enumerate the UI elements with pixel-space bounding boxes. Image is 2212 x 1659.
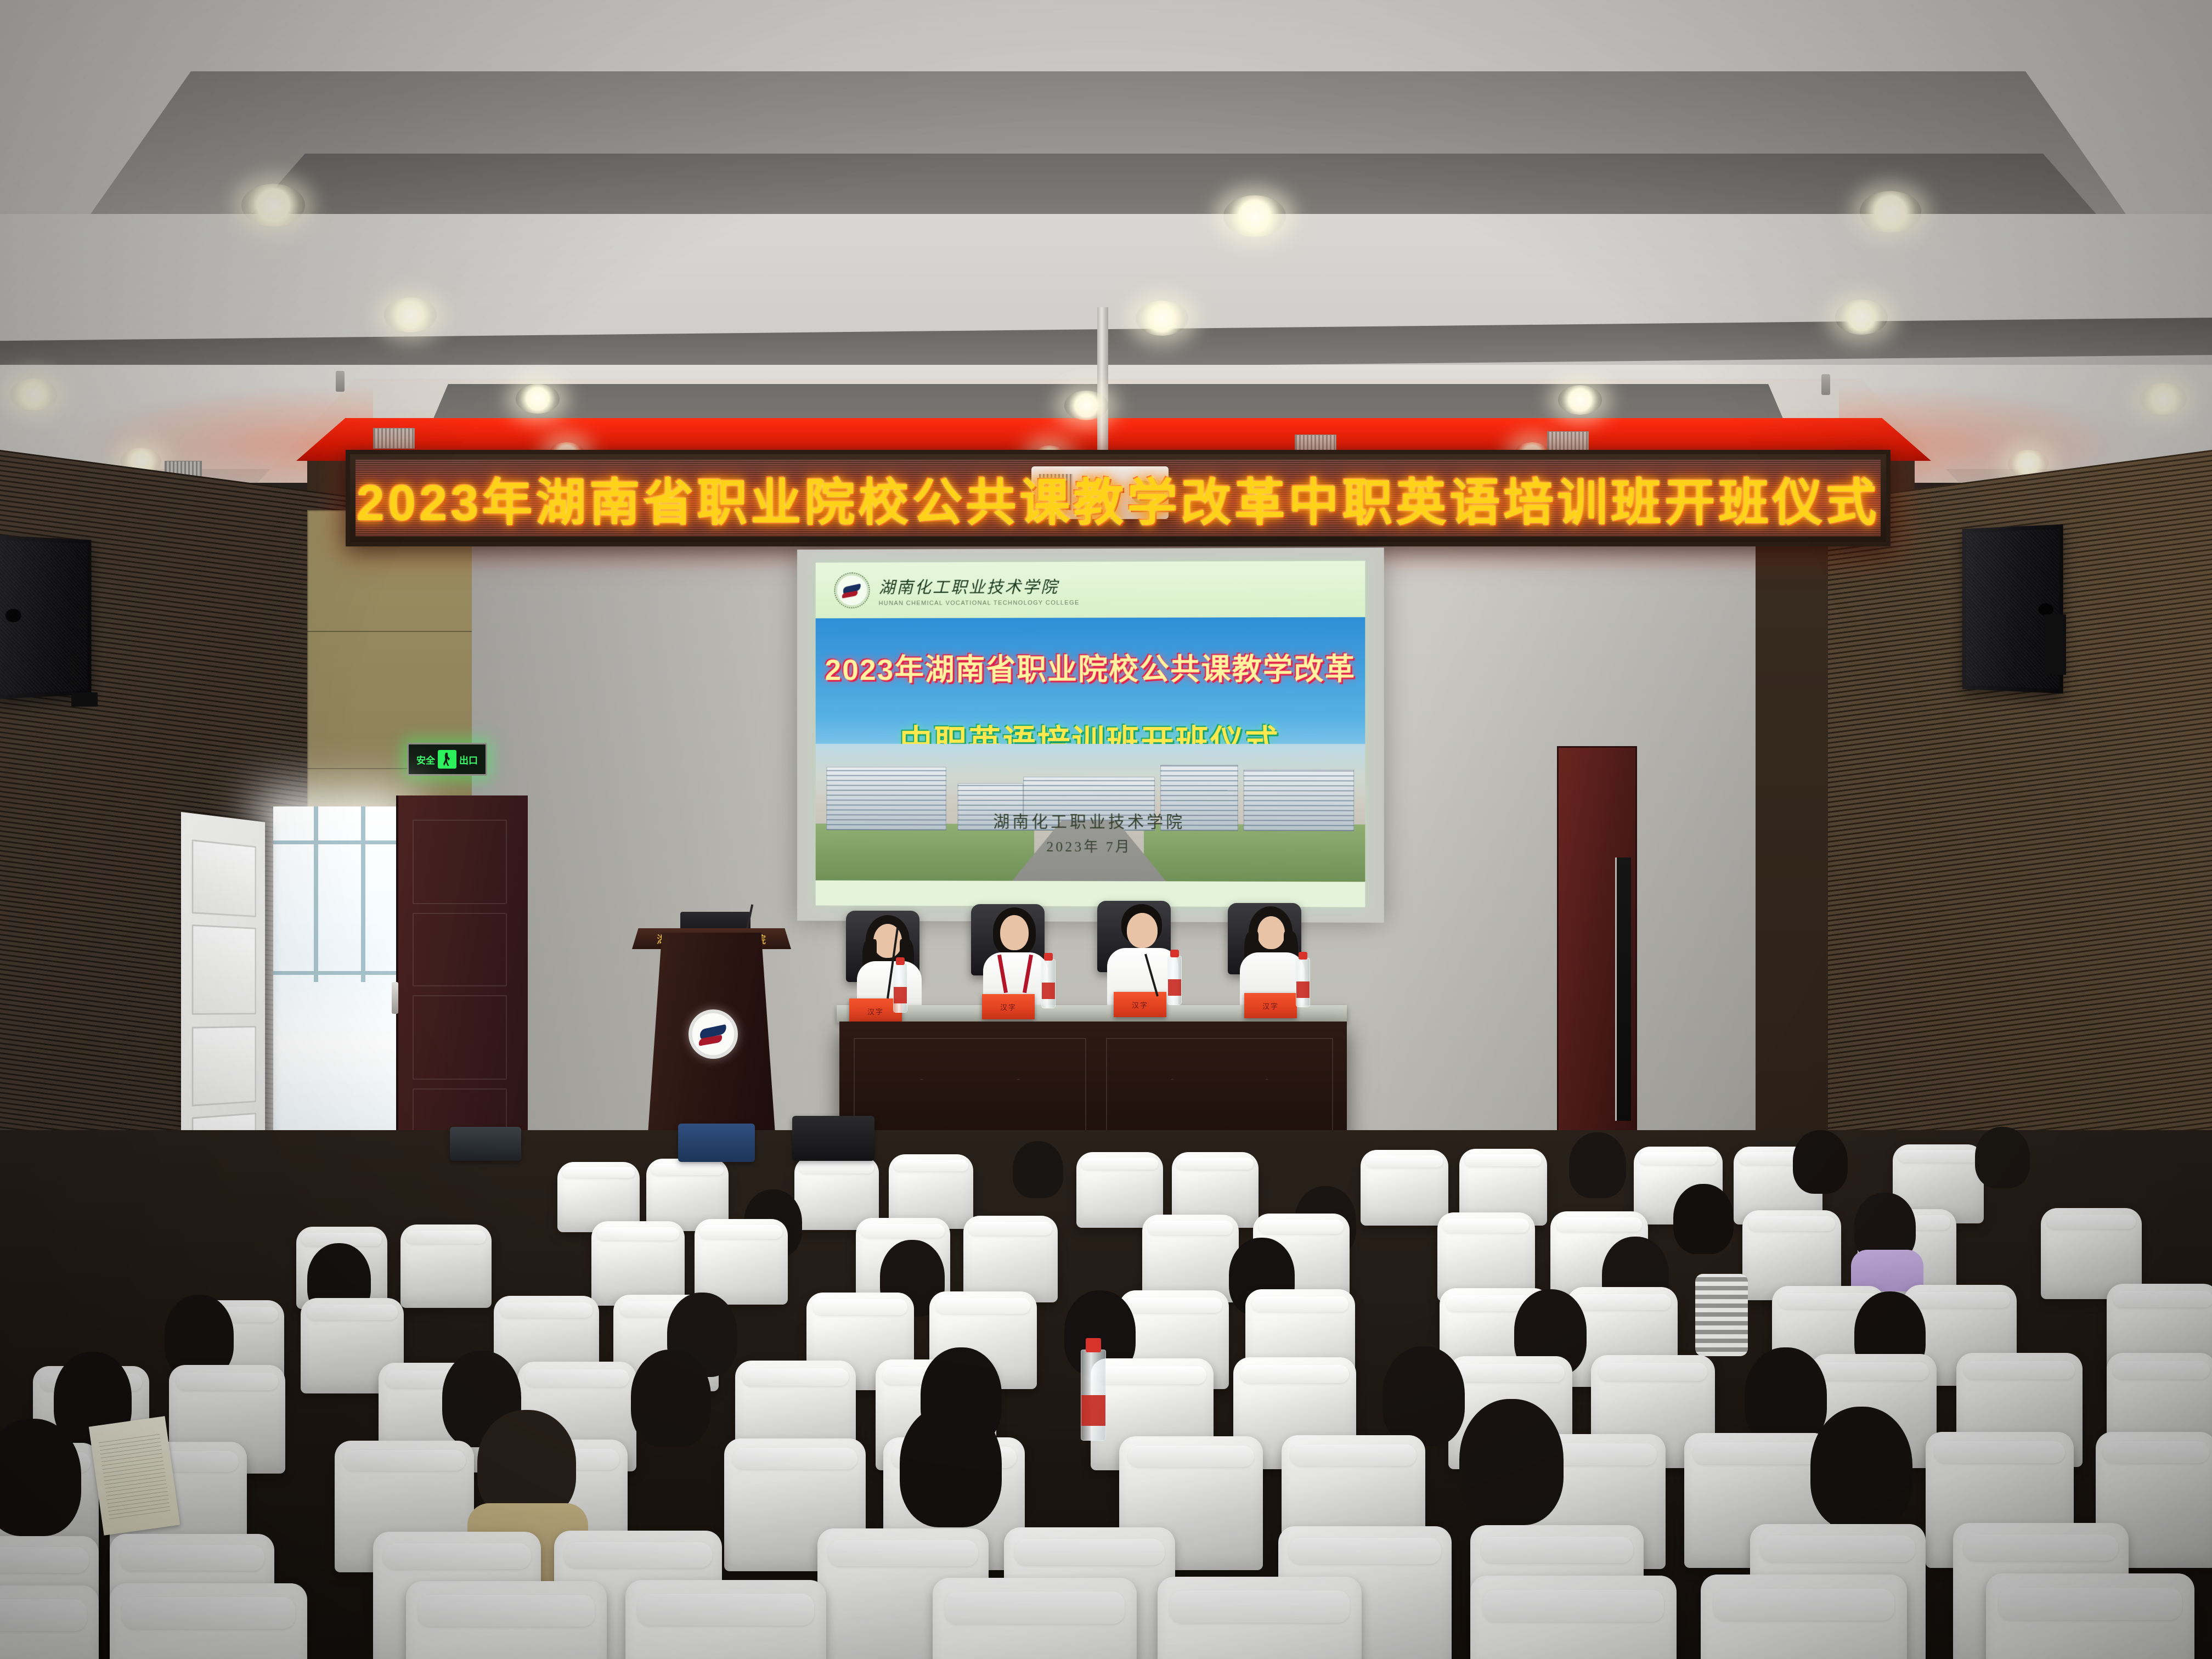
attendee-head — [1793, 1130, 1848, 1194]
audience-chair — [1158, 1577, 1362, 1659]
hvac-vent — [373, 428, 415, 449]
slide-body: 2023年湖南省职业院校公共课教学改革 中职英语培训班开班仪式 湖南化工职业技术… — [816, 617, 1365, 882]
ceiling-downlight — [516, 384, 560, 414]
attendee-head — [0, 1419, 81, 1536]
water-bottle — [1167, 956, 1182, 1005]
water-bottle — [1041, 959, 1056, 1008]
running-man-exit-icon — [438, 750, 456, 769]
audience-chair — [695, 1219, 788, 1305]
bag-on-table — [678, 1124, 755, 1162]
audience-chair — [933, 1578, 1137, 1659]
college-emblem-icon — [689, 1009, 738, 1059]
college-logo-icon — [834, 572, 870, 608]
document-paper — [89, 1416, 180, 1536]
attendee-checkered-shirt — [1695, 1274, 1748, 1356]
exit-sign-label-left: 安全 — [416, 753, 435, 766]
slide-title-line1: 2023年湖南省职业院校公共课教学改革 — [816, 645, 1365, 689]
table-panel-inlay — [1106, 1038, 1333, 1144]
led-banner-panel: 2023年湖南省职业院校公共课教学改革中职英语培训班开班仪式 — [356, 460, 1881, 537]
projector-mount-pole — [1097, 307, 1108, 472]
wall-speaker-left — [0, 535, 92, 699]
ceiling-downlight — [10, 379, 57, 410]
led-banner-text: 2023年湖南省职业院校公共课教学改革中职英语培训班开班仪式 — [357, 462, 1880, 535]
audience-chair — [963, 1216, 1058, 1302]
table-chevron-pattern — [1125, 1079, 1314, 1126]
attendee-striped-shirt — [631, 1350, 711, 1447]
audience-chair — [0, 1585, 99, 1659]
water-bottle — [893, 963, 907, 1013]
ceiling-downlight — [1860, 191, 1921, 233]
audience-chair — [406, 1581, 607, 1659]
presentation-slide: 湖南化工职业技术学院 HUNAN CHEMICAL VOCATIONAL TEC… — [816, 561, 1365, 907]
ceiling-downlight — [384, 297, 437, 332]
ceiling-downlight — [1136, 301, 1188, 336]
ceiling-downlight — [1558, 385, 1602, 415]
name-card: 汉字 — [1244, 993, 1297, 1018]
hvac-vent — [1547, 431, 1589, 452]
bag-on-table — [792, 1116, 874, 1161]
table-chevron-pattern — [873, 1079, 1067, 1126]
exit-sign-label-right: 出口 — [459, 753, 478, 766]
audience-chair — [625, 1580, 826, 1659]
audience-chair — [1142, 1215, 1239, 1302]
campus-photo: 湖南化工职业技术学院 2023年 7月 — [816, 744, 1365, 882]
audience-chair — [110, 1583, 307, 1659]
attendee-head — [1569, 1132, 1626, 1198]
attendee-head — [1673, 1184, 1734, 1254]
slide-logo-chinese: 湖南化工职业技术学院 — [879, 573, 1080, 598]
attendee-head — [1013, 1141, 1063, 1198]
slide-logo-english: HUNAN CHEMICAL VOCATIONAL TECHNOLOGY COL… — [879, 600, 1080, 607]
projection-screen: 湖南化工职业技术学院 HUNAN CHEMICAL VOCATIONAL TEC… — [797, 548, 1384, 923]
ceiling — [0, 0, 2212, 483]
audience-chair — [400, 1224, 492, 1308]
ceiling-downlight — [1223, 195, 1286, 237]
slide-date: 2023年 7月 — [816, 835, 1365, 856]
water-bottle — [1081, 1350, 1106, 1441]
attendee-head — [1975, 1127, 2030, 1188]
attendee-head — [900, 1404, 1002, 1527]
name-card: 汉字 — [982, 994, 1035, 1019]
door-right-side[interactable] — [1557, 746, 1637, 1133]
ceiling-downlight — [1064, 391, 1108, 420]
audience-chair — [1701, 1575, 1907, 1659]
ceiling-downlight — [1835, 300, 1888, 335]
bag-on-table — [450, 1127, 521, 1161]
speaker-bracket-right — [2044, 614, 2066, 675]
door-right-gap — [1615, 857, 1631, 1121]
ceiling-downlight — [2140, 383, 2187, 415]
conference-hall-photo: 2023年湖南省职业院校公共课教学改革中职英语培训班开班仪式 湖南化工职业技术学… — [0, 0, 2212, 1659]
ceiling-downlight — [241, 184, 305, 227]
ceiling-recess-outer — [66, 71, 2151, 219]
speaker-bracket-left — [71, 692, 98, 707]
slide-organization: 湖南化工职业技术学院 — [816, 808, 1365, 833]
led-banner: 2023年湖南省职业院校公共课教学改革中职英语培训班开班仪式 — [346, 450, 1891, 546]
emergency-exit-sign: 安全 出口 — [407, 743, 487, 776]
sprinkler-head — [336, 371, 345, 392]
audience-chair — [1986, 1573, 2194, 1659]
attendee-head — [1383, 1346, 1465, 1446]
attendee-lavender-shirt — [1854, 1193, 1916, 1263]
attendee-head — [1459, 1399, 1564, 1525]
water-bottle — [1296, 958, 1310, 1007]
door-handle-icon[interactable] — [392, 982, 398, 1014]
sprinkler-head — [1821, 374, 1830, 395]
attendee-tan-shirt — [477, 1410, 576, 1520]
audience-chair — [1470, 1576, 1677, 1659]
audience-chair — [1361, 1150, 1448, 1226]
slide-header: 湖南化工职业技术学院 HUNAN CHEMICAL VOCATIONAL TEC… — [816, 561, 1365, 618]
attendee-head — [1810, 1407, 1912, 1530]
table-panel-inlay — [854, 1038, 1086, 1144]
slide-footer: 湖南化工职业技术学院 2023年 7月 — [816, 808, 1365, 856]
